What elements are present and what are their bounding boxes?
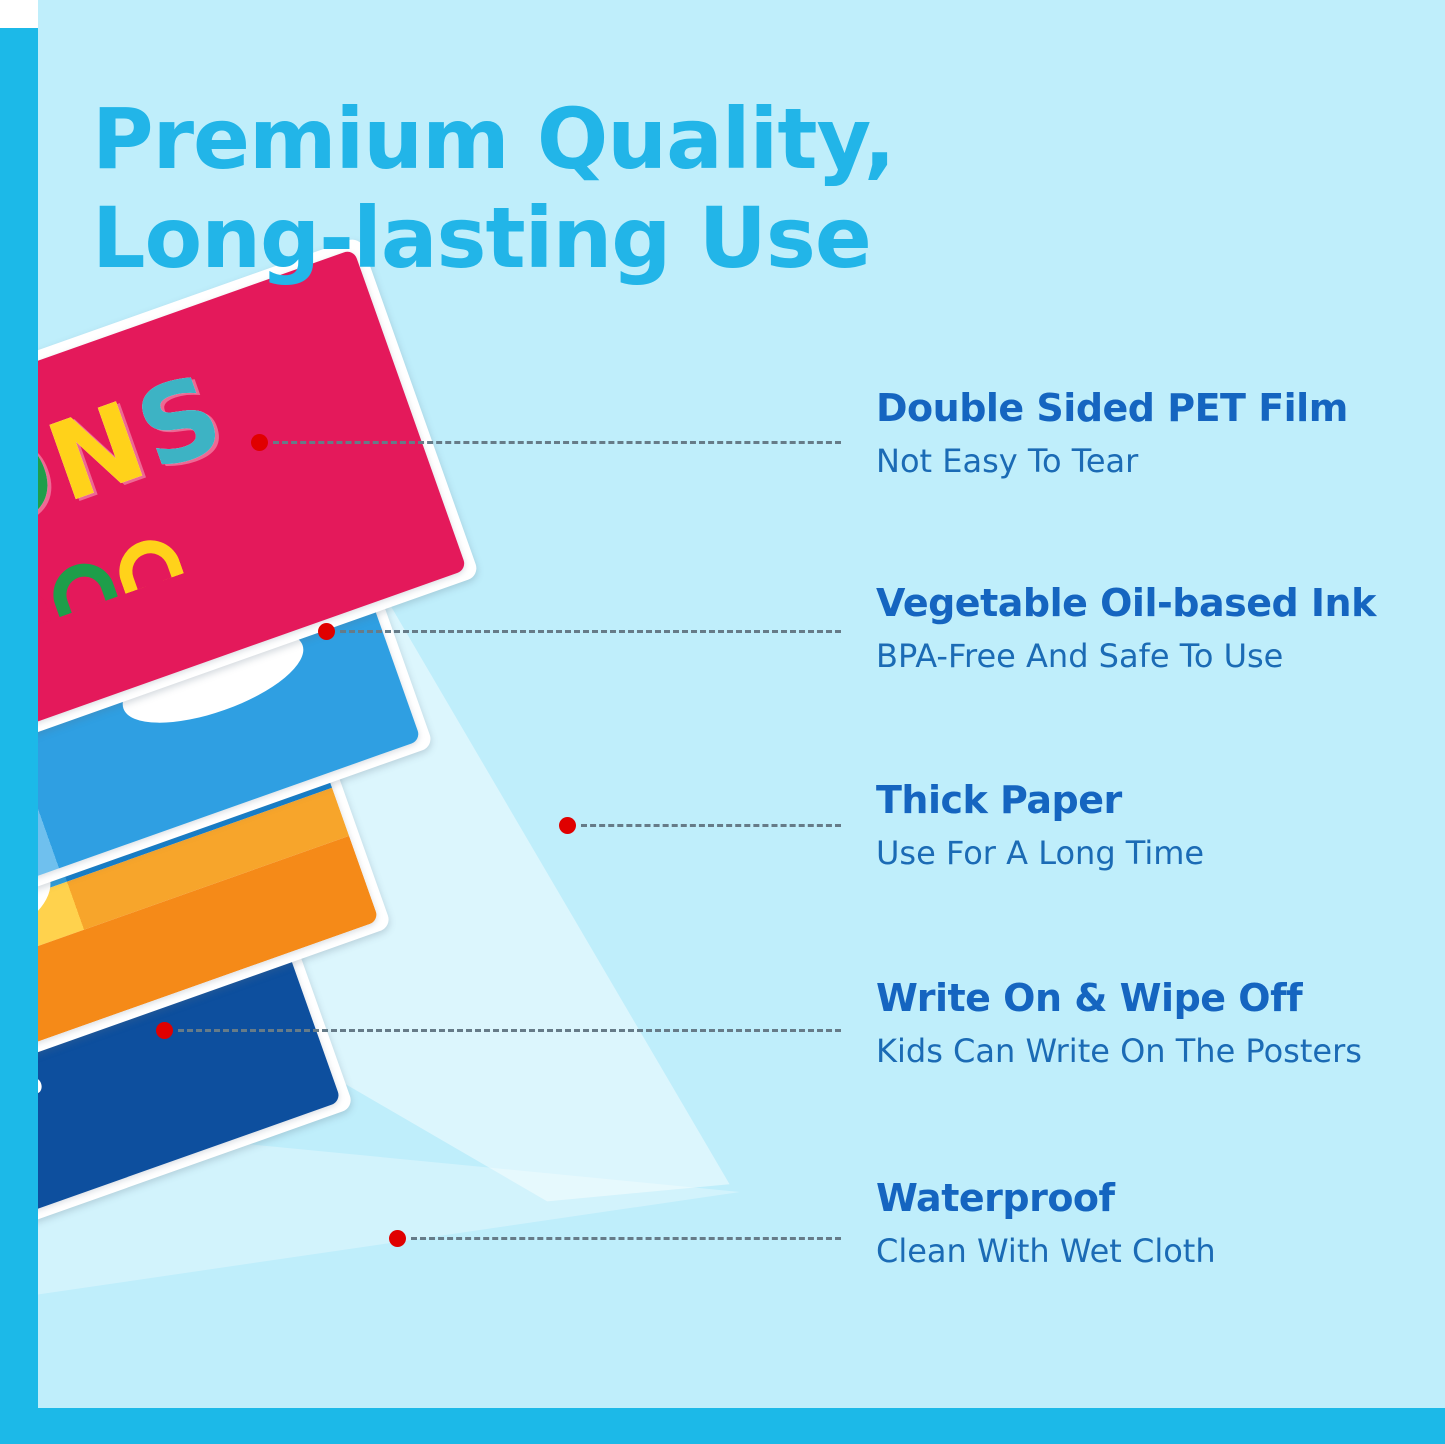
- connector-dash-3: [581, 824, 841, 827]
- connector-dot-2: [318, 623, 335, 640]
- feature-subtitle-3: Use For A Long Time: [876, 836, 1204, 871]
- connector-dash-4: [178, 1029, 841, 1032]
- left-accent-bar: [0, 28, 38, 1444]
- feature-list: Double Sided PET Film Not Easy To Tear V…: [876, 0, 1436, 1444]
- connector-line-5: [389, 1237, 841, 1240]
- connector-dot-4: [156, 1022, 173, 1039]
- feature-subtitle-4: Kids Can Write On The Posters: [876, 1034, 1362, 1069]
- arc-shape: [111, 532, 184, 594]
- feature-title-1: Double Sided PET Film: [876, 388, 1348, 430]
- feature-title-2: Vegetable Oil-based Ink: [876, 583, 1376, 625]
- connector-dot-1: [251, 434, 268, 451]
- feature-item-1: Double Sided PET Film Not Easy To Tear: [876, 388, 1348, 479]
- connector-line-4: [156, 1029, 841, 1032]
- connector-dash-5: [411, 1237, 841, 1240]
- connector-dash-1: [273, 441, 841, 444]
- feature-subtitle-1: Not Easy To Tear: [876, 444, 1348, 479]
- page-title-line2: Long-lasting Use: [92, 189, 895, 288]
- feature-subtitle-5: Clean With Wet Cloth: [876, 1234, 1216, 1269]
- feature-title-4: Write On & Wipe Off: [876, 978, 1362, 1020]
- connector-line-1: [251, 441, 841, 444]
- feature-item-4: Write On & Wipe Off Kids Can Write On Th…: [876, 978, 1362, 1069]
- feature-title-5: Waterproof: [876, 1178, 1216, 1220]
- connector-dot-5: [389, 1230, 406, 1247]
- connector-line-3: [559, 824, 841, 827]
- feature-title-3: Thick Paper: [876, 780, 1204, 822]
- corner-notch: [0, 0, 38, 28]
- feature-item-5: Waterproof Clean With Wet Cloth: [876, 1178, 1216, 1269]
- feature-item-3: Thick Paper Use For A Long Time: [876, 780, 1204, 871]
- feature-subtitle-2: BPA-Free And Safe To Use: [876, 639, 1376, 674]
- connector-dot-3: [559, 817, 576, 834]
- connector-dash-2: [340, 630, 841, 633]
- infographic-canvas: ❋ ❋ ❋: [0, 0, 1445, 1444]
- feature-item-2: Vegetable Oil-based Ink BPA-Free And Saf…: [876, 583, 1376, 674]
- page-title-line1: Premium Quality,: [92, 90, 895, 189]
- page-title: Premium Quality, Long-lasting Use: [92, 90, 895, 288]
- arc-shape: [45, 555, 118, 617]
- connector-line-2: [318, 630, 841, 633]
- poster-stack-image: ❋ ❋ ❋: [0, 560, 710, 1444]
